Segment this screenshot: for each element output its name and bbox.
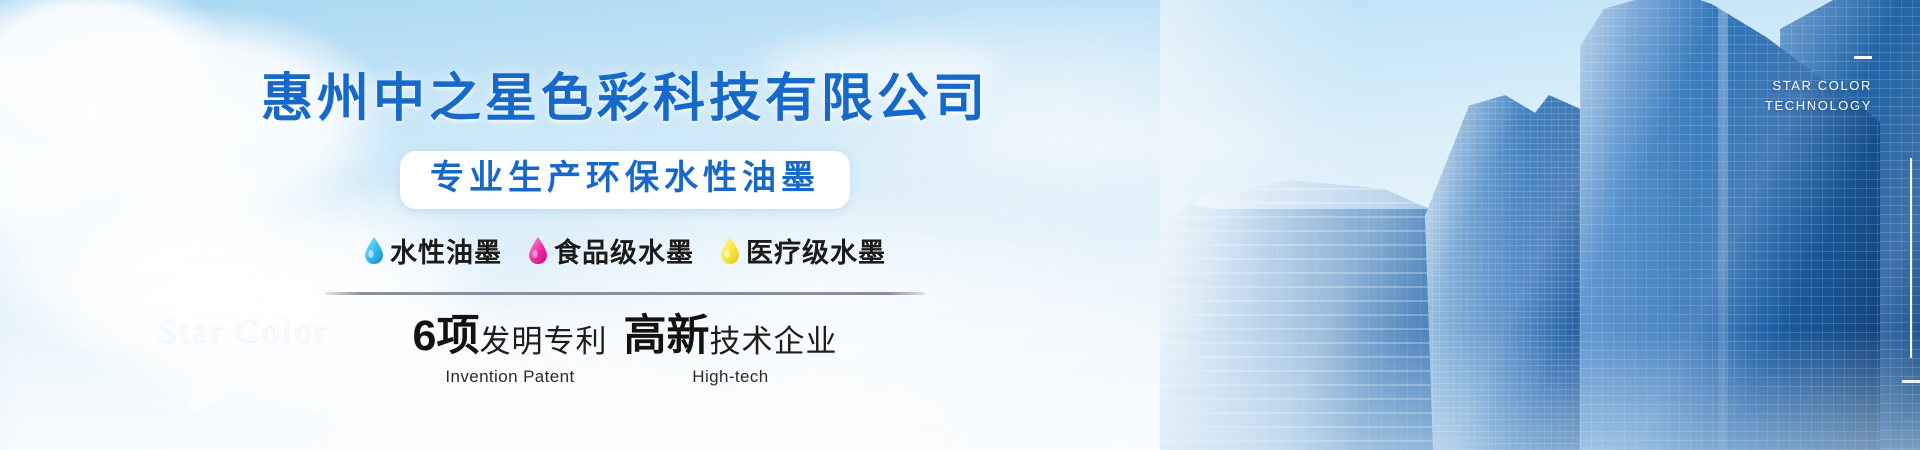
- product-tag-list: 水性油墨 食品级水墨: [364, 231, 886, 270]
- section-divider: [325, 292, 925, 295]
- credential-badge: 6项 发明专利 Invention Patent: [413, 315, 608, 387]
- credential-badge-list: 6项 发明专利 Invention Patent 高新 技术企业 High-te…: [413, 315, 838, 387]
- product-tag-label: 水性油墨: [390, 231, 502, 270]
- promo-banner: Star Color STAR COLOR TECHNOLOGY 惠州中之: [0, 0, 1920, 450]
- company-title: 惠州中之星色彩科技有限公司: [261, 56, 989, 131]
- product-tag-label: 食品级水墨: [554, 231, 694, 270]
- water-drop-icon: [720, 237, 740, 264]
- credential-badge: 高新 技术企业 High-tech: [623, 315, 837, 387]
- hero-content: 惠州中之星色彩科技有限公司 专业生产环保水性油墨 水性油墨: [0, 0, 1250, 450]
- product-tag[interactable]: 医疗级水墨: [720, 231, 886, 270]
- product-tag[interactable]: 食品级水墨: [528, 231, 694, 270]
- badge-english-text: Invention Patent: [445, 367, 574, 387]
- mark-vertical-rule: [1910, 158, 1912, 358]
- mark-tick-top: [1854, 56, 1872, 59]
- mark-line-1: STAR COLOR: [1765, 76, 1872, 96]
- badge-strong-text: 高新: [623, 315, 709, 358]
- skyscraper-photo: [1160, 0, 1920, 450]
- product-tag[interactable]: 水性油墨: [364, 231, 502, 270]
- subtitle-pill: 专业生产环保水性油墨: [400, 151, 850, 209]
- badge-rest-text: 技术企业: [709, 326, 837, 357]
- mark-line-2: TECHNOLOGY: [1765, 96, 1872, 116]
- badge-english-text: High-tech: [692, 367, 768, 387]
- star-color-technology-mark: STAR COLOR TECHNOLOGY: [1765, 76, 1872, 116]
- mark-tick-bottom: [1902, 380, 1920, 383]
- water-drop-icon: [364, 237, 384, 264]
- badge-rest-text: 发明专利: [479, 326, 607, 357]
- badge-strong-text: 6项: [413, 315, 480, 358]
- subtitle-text: 专业生产环保水性油墨: [430, 160, 820, 197]
- water-drop-icon: [528, 237, 548, 264]
- city-haze-bottom: [1160, 330, 1920, 450]
- product-tag-label: 医疗级水墨: [746, 231, 886, 270]
